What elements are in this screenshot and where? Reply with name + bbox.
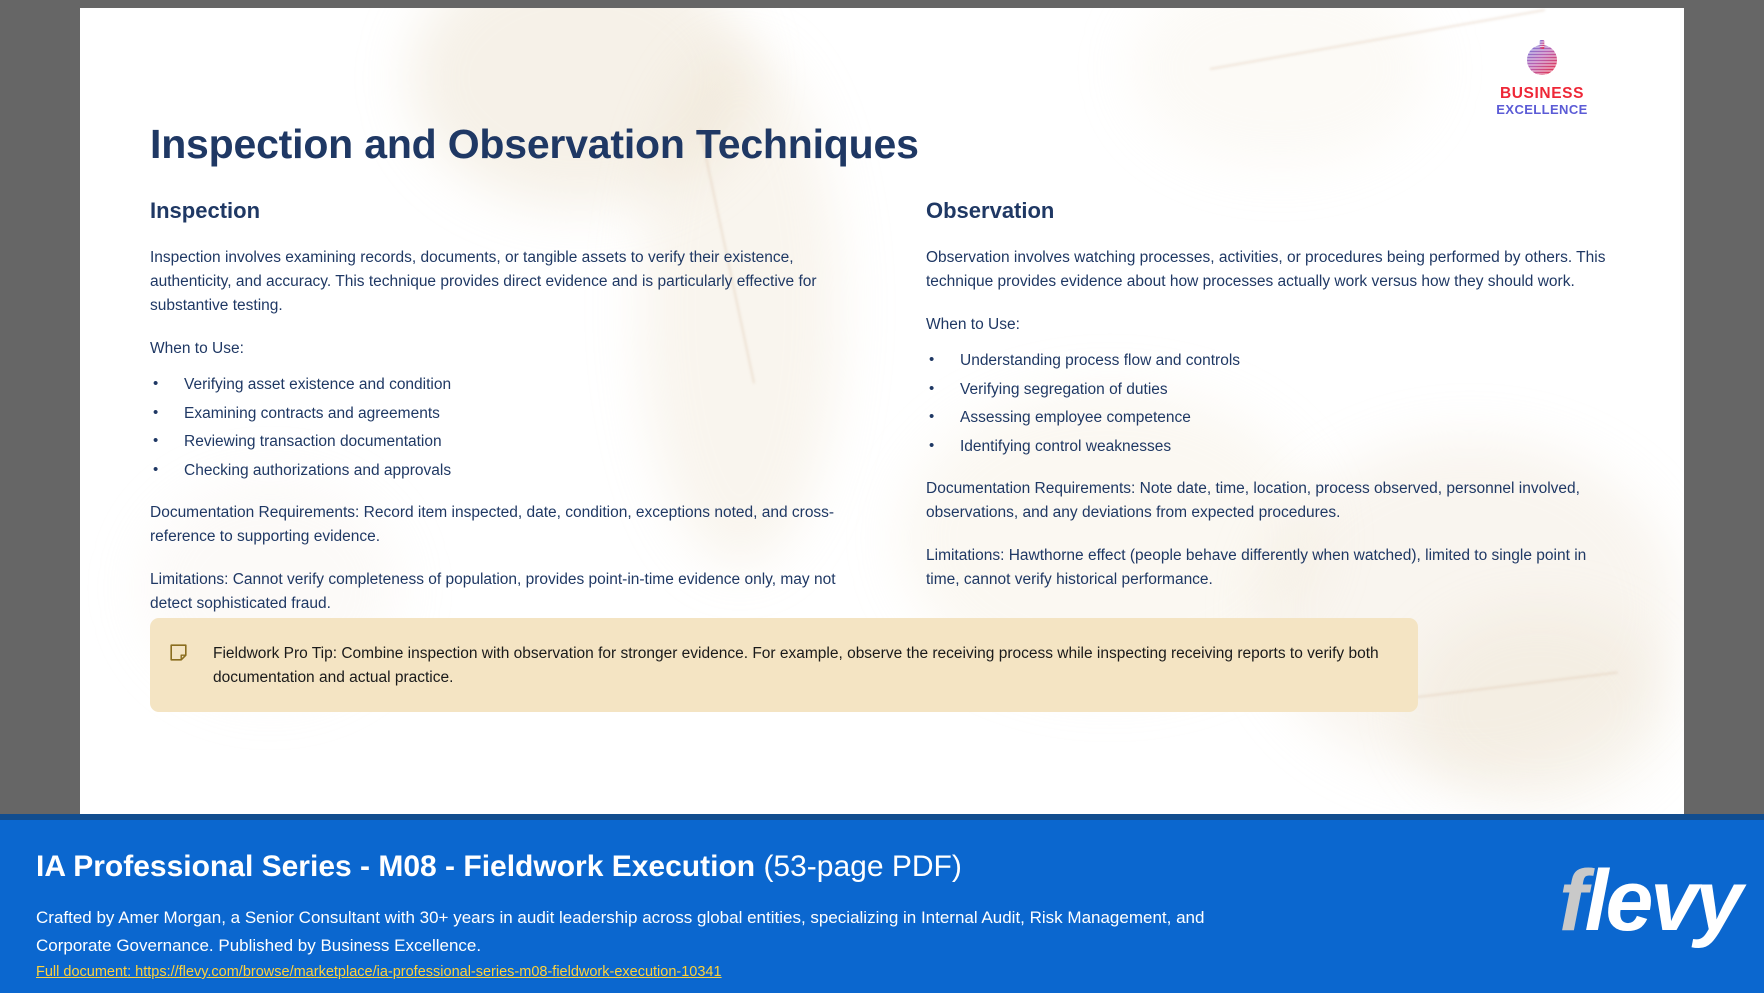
- inspection-when-to-use-label: When to Use:: [150, 337, 844, 361]
- observation-limitations-text: Limitations: Hawthorne effect (people be…: [926, 544, 1620, 592]
- column-heading-inspection: Inspection: [150, 198, 844, 224]
- logo-line-excellence: EXCELLENCE: [1494, 103, 1590, 116]
- flevy-footer-banner: IA Professional Series - M08 - Fieldwork…: [0, 814, 1764, 993]
- document-title-main: IA Professional Series - M08 - Fieldwork…: [36, 850, 755, 883]
- globe-gradient-icon: [1519, 36, 1565, 82]
- document-title: IA Professional Series - M08 - Fieldwork…: [36, 850, 962, 884]
- flevy-logo[interactable]: flevy: [1559, 858, 1740, 944]
- list-item: Reviewing transaction documentation: [150, 432, 844, 452]
- list-item: Understanding process flow and controls: [926, 351, 1620, 371]
- inspection-limitations-text: Limitations: Cannot verify completeness …: [150, 568, 844, 616]
- observation-intro-text: Observation involves watching processes,…: [926, 246, 1620, 294]
- inspection-intro-text: Inspection involves examining records, d…: [150, 246, 844, 318]
- fieldwork-pro-tip-text: Fieldwork Pro Tip: Combine inspection wi…: [213, 642, 1392, 690]
- column-inspection: Inspection Inspection involves examining…: [150, 198, 844, 635]
- list-item: Identifying control weaknesses: [926, 437, 1620, 457]
- column-heading-observation: Observation: [926, 198, 1620, 224]
- inspection-documentation-text: Documentation Requirements: Record item …: [150, 501, 844, 549]
- list-item: Verifying segregation of duties: [926, 380, 1620, 400]
- observation-when-to-use-label: When to Use:: [926, 313, 1620, 337]
- document-page-count: (53-page PDF): [763, 850, 961, 883]
- page-title: Inspection and Observation Techniques: [150, 121, 919, 168]
- observation-bullet-list: Understanding process flow and controls …: [926, 351, 1620, 457]
- slide-canvas: BUSINESS EXCELLENCE Inspection and Obser…: [80, 8, 1684, 814]
- flevy-logo-levy: levy: [1585, 853, 1740, 949]
- full-document-link[interactable]: Full document: https://flevy.com/browse/…: [36, 964, 722, 980]
- inspection-bullet-list: Verifying asset existence and condition …: [150, 375, 844, 481]
- list-item: Examining contracts and agreements: [150, 404, 844, 424]
- flevy-logo-f: f: [1559, 853, 1585, 949]
- fieldwork-pro-tip-box: Fieldwork Pro Tip: Combine inspection wi…: [150, 618, 1418, 712]
- content-columns: Inspection Inspection involves examining…: [150, 198, 1620, 635]
- list-item: Assessing employee competence: [926, 408, 1620, 428]
- column-observation: Observation Observation involves watchin…: [926, 198, 1620, 635]
- sticky-note-icon: [170, 644, 187, 661]
- screenshot-stage: BUSINESS EXCELLENCE Inspection and Obser…: [0, 0, 1764, 993]
- observation-documentation-text: Documentation Requirements: Note date, t…: [926, 477, 1620, 525]
- list-item: Checking authorizations and approvals: [150, 461, 844, 481]
- list-item: Verifying asset existence and condition: [150, 375, 844, 395]
- business-excellence-logo: BUSINESS EXCELLENCE: [1494, 36, 1590, 116]
- document-description: Crafted by Amer Morgan, a Senior Consult…: [36, 904, 1236, 960]
- logo-line-business: BUSINESS: [1494, 86, 1590, 102]
